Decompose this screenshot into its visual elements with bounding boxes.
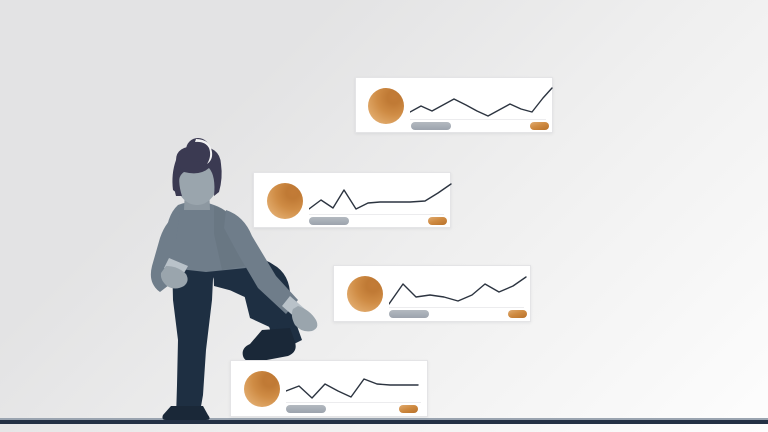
sparkline-chart-4 [286, 369, 430, 403]
illustration-scene [0, 0, 768, 432]
analytics-card-3[interactable] [333, 265, 531, 322]
label-pill-2[interactable] [309, 217, 349, 225]
bent-shoe [243, 328, 296, 362]
status-pill-2[interactable] [428, 217, 447, 225]
label-pill-4[interactable] [286, 405, 326, 413]
sparkline-chart-3 [389, 274, 533, 308]
label-pill-1[interactable] [411, 122, 451, 130]
avatar-sphere-3 [347, 276, 383, 312]
card-divider-1 [410, 119, 546, 120]
avatar-sphere-2 [267, 183, 303, 219]
analytics-card-4[interactable] [230, 360, 428, 417]
analytics-card-2[interactable] [253, 172, 451, 228]
avatar-sphere-1 [368, 88, 404, 124]
sparkline-chart-2 [309, 181, 453, 215]
card-divider-4 [286, 402, 421, 403]
status-pill-1[interactable] [530, 122, 549, 130]
avatar-sphere-4 [244, 371, 280, 407]
card-divider-3 [389, 307, 524, 308]
standing-shoe [162, 406, 209, 420]
label-pill-3[interactable] [389, 310, 429, 318]
status-pill-3[interactable] [508, 310, 527, 318]
status-pill-4[interactable] [399, 405, 418, 413]
sparkline-chart-1 [410, 86, 554, 120]
analytics-card-1[interactable] [355, 77, 553, 133]
card-divider-2 [309, 214, 444, 215]
